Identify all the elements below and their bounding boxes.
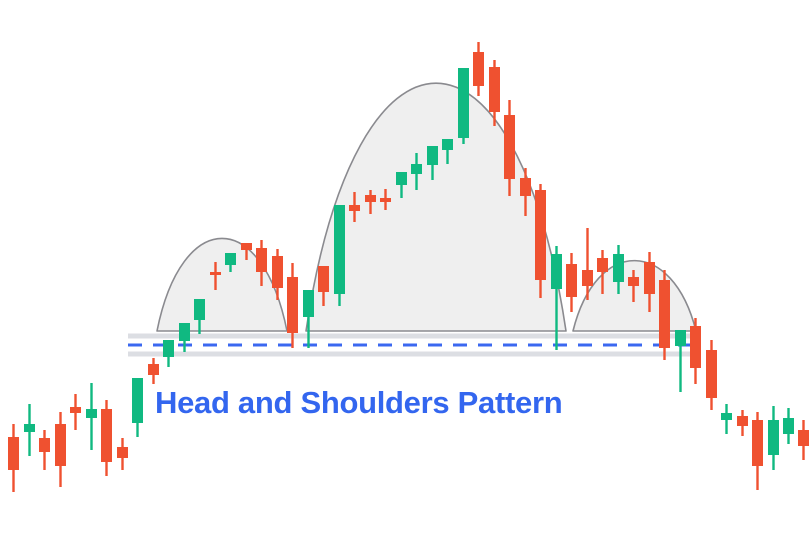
candlestick bbox=[101, 400, 112, 476]
candle-body bbox=[613, 254, 624, 282]
candlestick bbox=[24, 404, 35, 456]
candle-body bbox=[706, 350, 717, 398]
candle-body bbox=[690, 326, 701, 368]
candle-body bbox=[241, 243, 252, 250]
candle-body bbox=[597, 258, 608, 272]
candle-body bbox=[225, 253, 236, 265]
candle-body bbox=[535, 190, 546, 280]
candlestick bbox=[473, 42, 484, 96]
chart-canvas bbox=[0, 0, 810, 551]
candlestick bbox=[86, 383, 97, 450]
candle-body bbox=[86, 409, 97, 418]
candlestick bbox=[690, 318, 701, 384]
candlestick bbox=[179, 323, 190, 352]
candle-body bbox=[318, 266, 329, 292]
candle-body bbox=[349, 205, 360, 211]
candle-body bbox=[55, 424, 66, 466]
pattern-arcs-layer bbox=[157, 83, 696, 331]
candle-body bbox=[721, 413, 732, 420]
candlestick bbox=[752, 412, 763, 490]
candlestick bbox=[675, 330, 686, 392]
candlestick bbox=[8, 424, 19, 492]
candlestick bbox=[783, 408, 794, 444]
candlestick bbox=[70, 394, 81, 430]
candle-body bbox=[504, 115, 515, 179]
candle-body bbox=[737, 416, 748, 426]
candlestick bbox=[334, 205, 345, 306]
neckline-layer bbox=[128, 336, 700, 354]
candle-body bbox=[272, 256, 283, 288]
candle-body bbox=[132, 378, 143, 423]
candle-body bbox=[70, 407, 81, 413]
candlestick bbox=[721, 404, 732, 434]
candle-body bbox=[489, 67, 500, 112]
candle-body bbox=[303, 290, 314, 317]
candle-body bbox=[458, 68, 469, 138]
candle-body bbox=[334, 205, 345, 294]
candle-body bbox=[783, 418, 794, 434]
candle-body bbox=[768, 420, 779, 455]
candle-body bbox=[396, 172, 407, 185]
candle-body bbox=[442, 139, 453, 150]
candlestick bbox=[132, 378, 143, 437]
candle-body bbox=[473, 52, 484, 86]
candlestick bbox=[458, 68, 469, 144]
candle-body bbox=[256, 248, 267, 272]
candle-body bbox=[644, 262, 655, 294]
candlestick bbox=[737, 410, 748, 436]
candlestick-chart-figure: Head and Shoulders Pattern bbox=[0, 0, 810, 551]
candle-body bbox=[427, 146, 438, 165]
candle-body bbox=[194, 299, 205, 320]
candlestick bbox=[566, 253, 577, 312]
candle-body bbox=[659, 280, 670, 348]
candle-body bbox=[179, 323, 190, 341]
candle-body bbox=[365, 195, 376, 202]
candle-body bbox=[798, 430, 809, 446]
candle-body bbox=[148, 364, 159, 375]
candle-body bbox=[39, 438, 50, 452]
candle-body bbox=[520, 178, 531, 196]
candle-body bbox=[566, 264, 577, 297]
candle-body bbox=[210, 272, 221, 275]
candle-body bbox=[551, 254, 562, 289]
candle-body bbox=[24, 424, 35, 432]
candlestick bbox=[659, 270, 670, 360]
candle-body bbox=[8, 437, 19, 470]
candlestick bbox=[706, 340, 717, 410]
candlestick bbox=[117, 438, 128, 470]
candlestick bbox=[148, 358, 159, 384]
candle-body bbox=[117, 447, 128, 458]
candle-body bbox=[411, 164, 422, 174]
candle-body bbox=[752, 420, 763, 466]
candlestick bbox=[55, 412, 66, 487]
candle-body bbox=[101, 409, 112, 462]
candlestick bbox=[798, 420, 809, 460]
candlestick bbox=[163, 340, 174, 367]
candlestick bbox=[39, 430, 50, 470]
candle-body bbox=[287, 277, 298, 333]
candle-body bbox=[675, 330, 686, 346]
candlestick bbox=[768, 406, 779, 470]
candle-body bbox=[582, 270, 593, 286]
left-shoulder-arc bbox=[157, 238, 287, 331]
candle-body bbox=[628, 277, 639, 286]
candle-body bbox=[163, 340, 174, 357]
candle-body bbox=[380, 198, 391, 202]
